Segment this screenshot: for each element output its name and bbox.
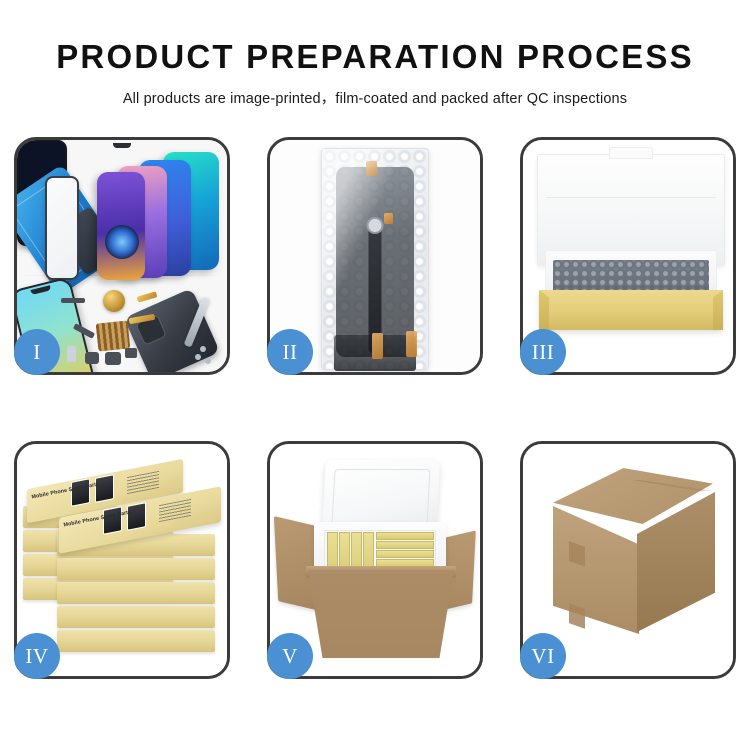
box-lid-fold	[546, 197, 716, 198]
kraft-box-stack: Mobile Phone Spare Parts Mobile Phone Sp…	[23, 468, 227, 658]
page-subtitle: All products are image-printed，film-coat…	[0, 87, 750, 108]
packed-box-h1	[376, 532, 434, 540]
packed-box-h3	[376, 550, 434, 558]
process-panel-grid: I II	[14, 137, 736, 687]
stacked-box-right-5	[57, 630, 215, 652]
vibration-motor-part	[103, 290, 125, 312]
process-step-panel-4[interactable]: Mobile Phone Spare Parts Mobile Phone Sp…	[14, 441, 230, 679]
tape-piece-4	[406, 331, 417, 357]
packed-box-h2	[376, 541, 434, 549]
tape-piece-2	[384, 213, 393, 224]
screws	[195, 354, 201, 360]
sim-tray	[67, 346, 76, 362]
kraft-box-base	[539, 290, 723, 330]
flex-cable-d	[137, 291, 158, 302]
flex-cable-c	[61, 298, 85, 303]
stacked-box-right-4	[57, 606, 215, 628]
step-badge-2: II	[267, 329, 313, 375]
step-badge-4: IV	[14, 633, 60, 679]
step-badge-3: III	[520, 329, 566, 375]
stacked-box-right-3	[57, 582, 215, 604]
page-title: PRODUCT PREPARATION PROCESS	[0, 40, 750, 75]
process-step-panel-1[interactable]: I	[14, 137, 230, 375]
process-step-panel-2[interactable]: II	[267, 137, 483, 375]
step-badge-5: V	[267, 633, 313, 679]
step-badge-1: I	[14, 329, 60, 375]
logic-board-chip	[96, 320, 131, 351]
step-badge-6: VI	[520, 633, 566, 679]
process-step-panel-6[interactable]: VI	[520, 441, 736, 679]
box-art-screen-b1	[103, 506, 122, 535]
carton-body	[308, 570, 454, 658]
bubble-wrap-filler	[553, 260, 709, 294]
speaker-module	[105, 352, 121, 365]
wrapped-connector	[367, 217, 384, 234]
box-lid-tab	[609, 147, 653, 159]
tempered-glass-screen	[45, 176, 79, 280]
camera-module	[85, 352, 99, 364]
process-step-panel-5[interactable]: V	[267, 441, 483, 679]
bubble-wrap-bag	[321, 148, 429, 370]
process-step-panel-3[interactable]: III	[520, 137, 736, 375]
page-header: PRODUCT PREPARATION PROCESS All products…	[0, 0, 750, 108]
tape-piece-3	[372, 333, 383, 359]
tape-piece-1	[366, 161, 377, 176]
box-art-screen-a2	[95, 474, 114, 503]
small-connector	[125, 348, 137, 358]
box-art-screen-b2	[127, 502, 146, 531]
stacked-box-right-2	[57, 558, 215, 580]
box-art-screen-a1	[71, 478, 90, 507]
carton-left-face	[553, 506, 639, 634]
